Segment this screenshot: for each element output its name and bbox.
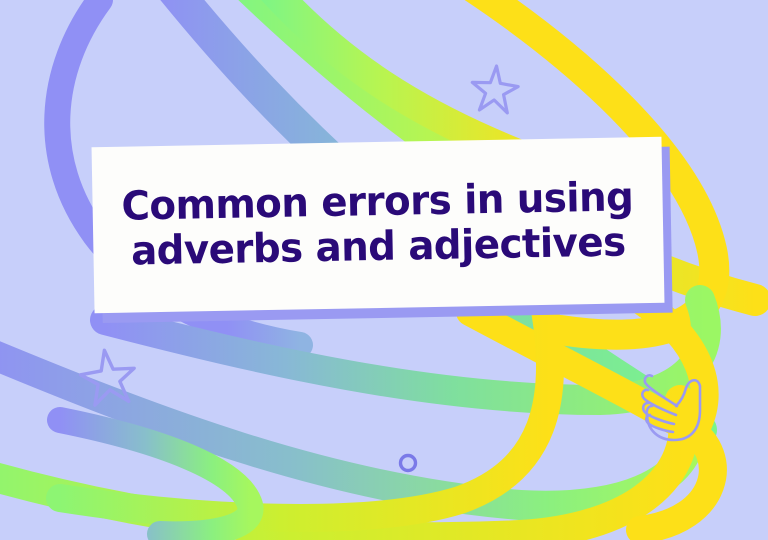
page-title-line-2: adverbs and adjectives	[131, 220, 626, 274]
title-card-group: Common errors in using adverbs and adjec…	[92, 137, 665, 313]
poster-canvas: Common errors in using adverbs and adjec…	[0, 0, 768, 540]
title-card: Common errors in using adverbs and adjec…	[92, 137, 665, 313]
